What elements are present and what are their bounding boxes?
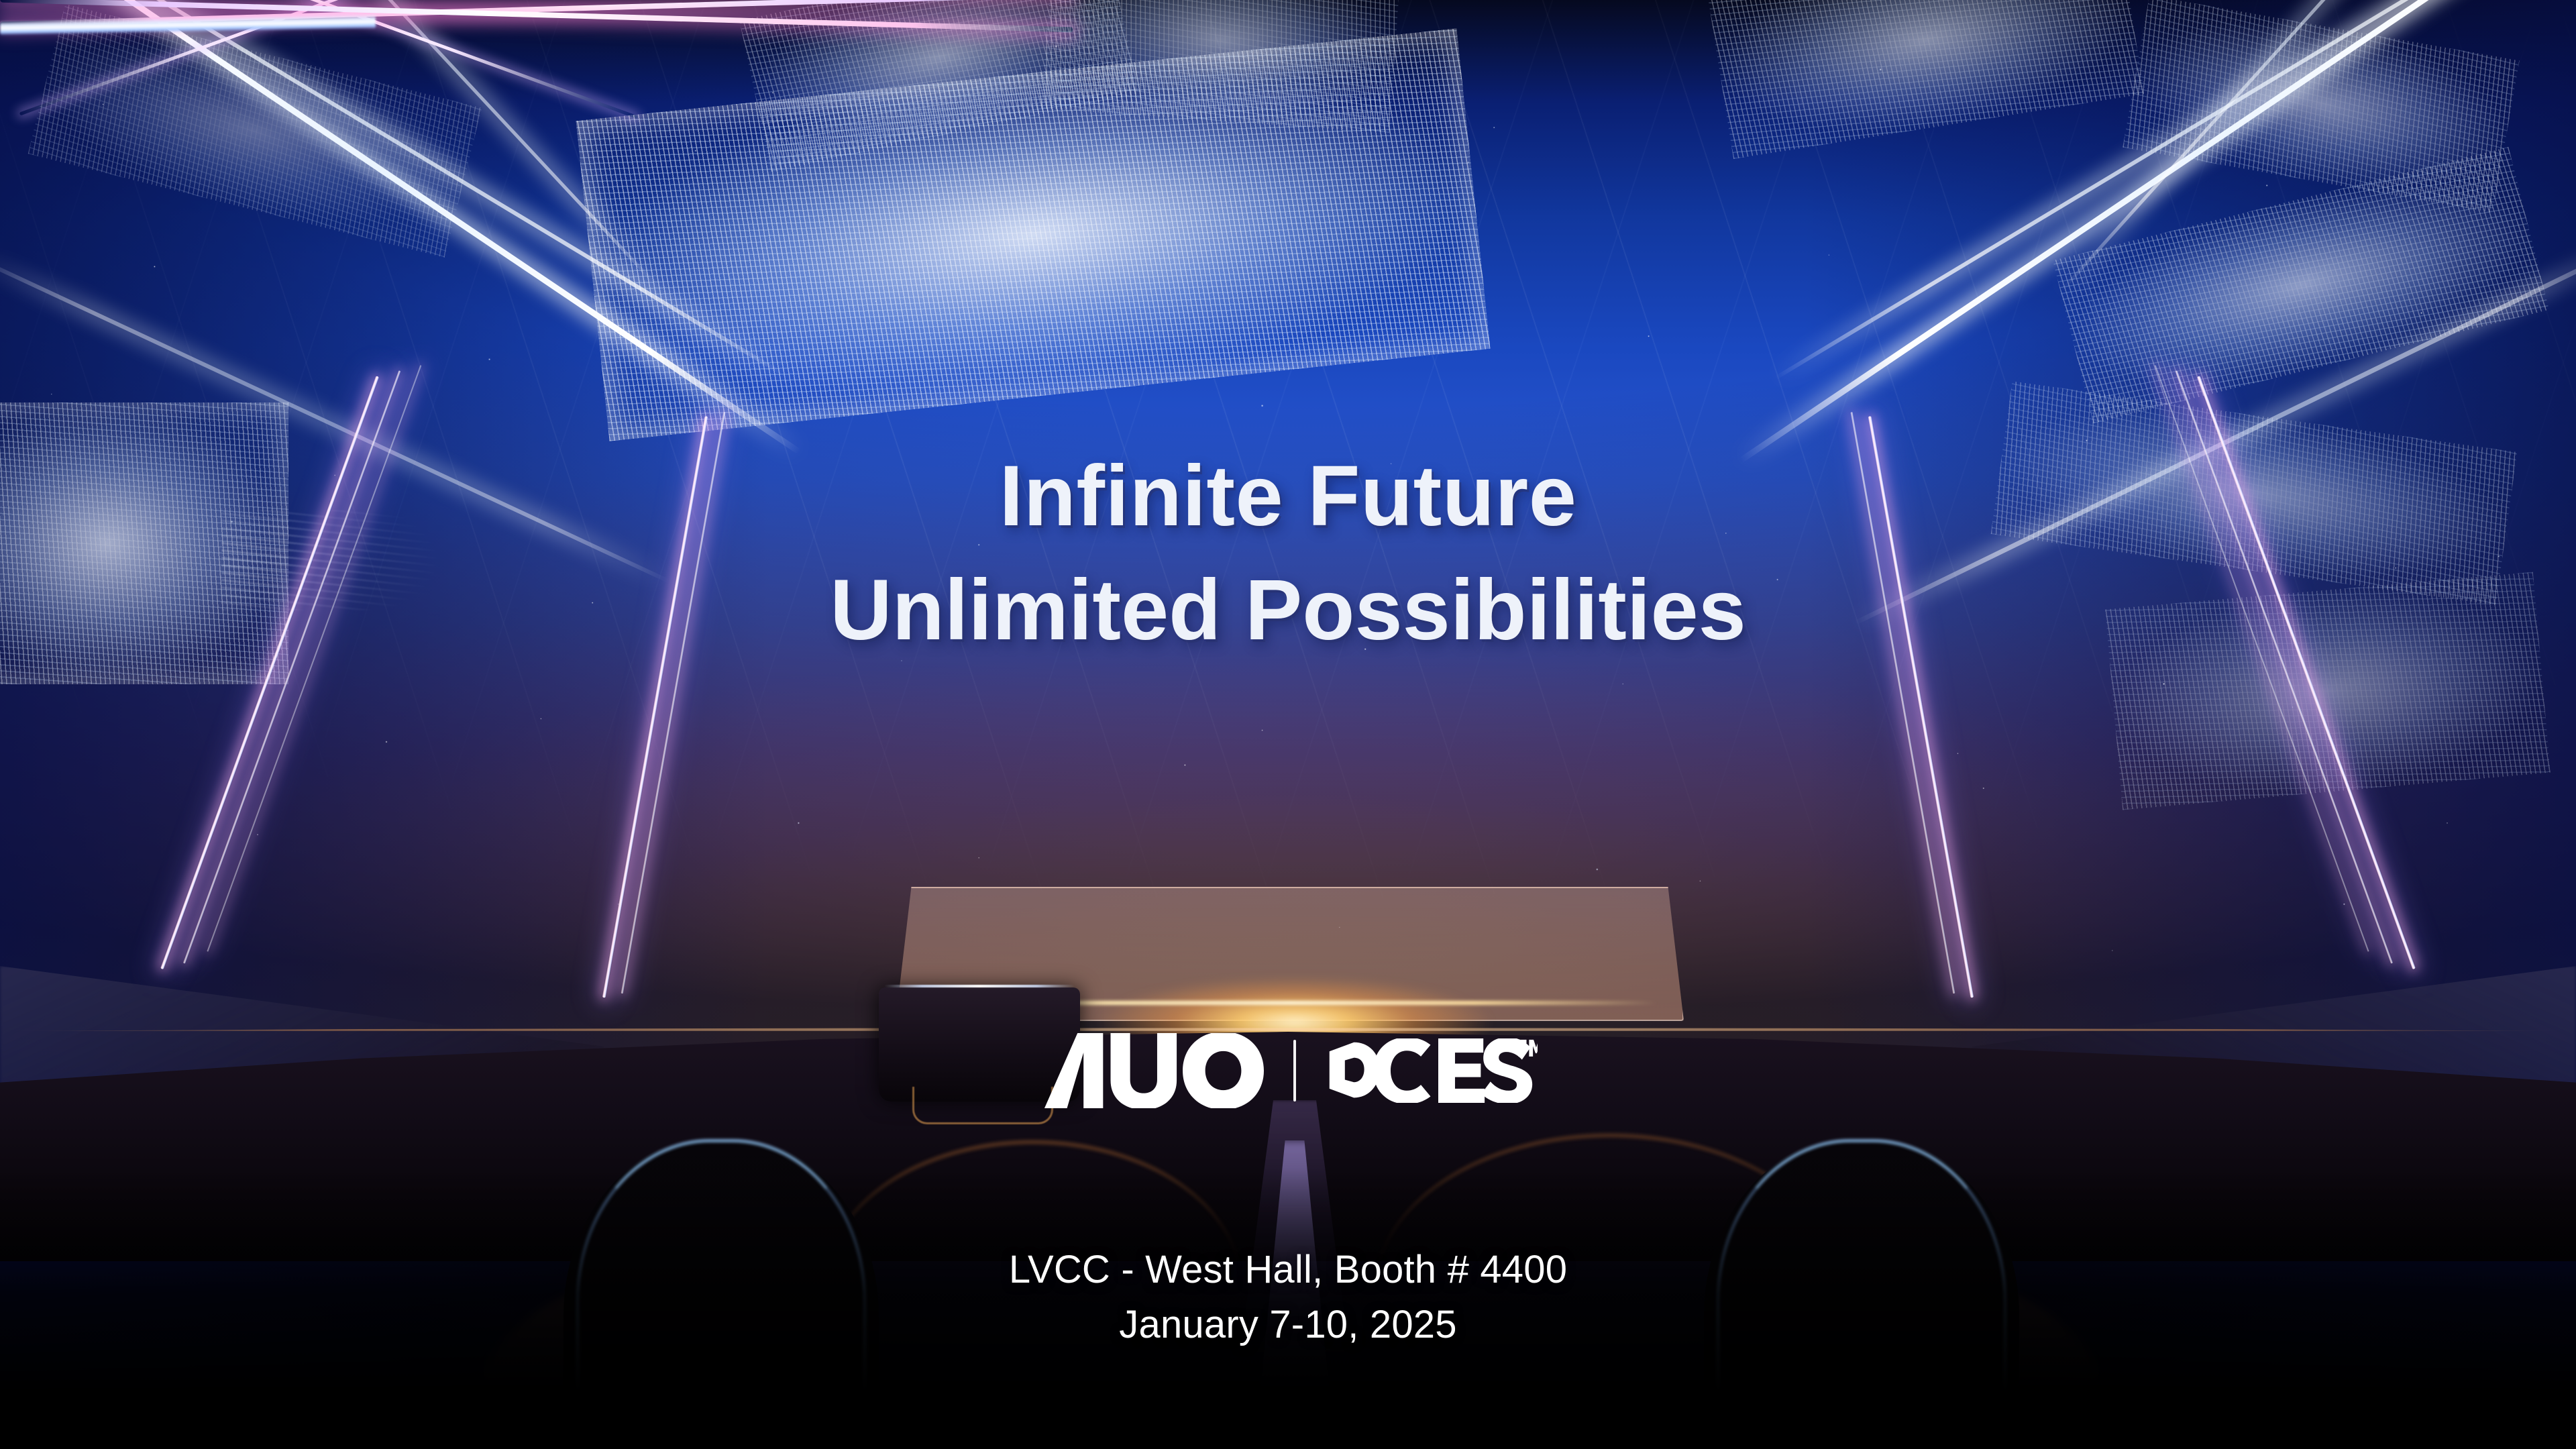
headline-line-1: Infinite Future bbox=[0, 439, 2576, 553]
event-venue: LVCC - West Hall, Booth # 4400 bbox=[0, 1242, 2576, 1297]
headline-line-2: Unlimited Possibilities bbox=[0, 553, 2576, 667]
headline: Infinite Future Unlimited Possibilities bbox=[0, 439, 2576, 667]
key-visual-canvas: Infinite Future Unlimited Possibilities bbox=[0, 0, 2576, 1449]
ces-logo-icon bbox=[1326, 1038, 1538, 1103]
event-dates: January 7-10, 2025 bbox=[0, 1297, 2576, 1352]
auo-logo-icon bbox=[1038, 1033, 1264, 1108]
event-info: LVCC - West Hall, Booth # 4400 January 7… bbox=[0, 1242, 2576, 1353]
steering-wheel-top-highlight bbox=[884, 985, 1075, 987]
logo-divider bbox=[1293, 1040, 1296, 1102]
logo-lockup bbox=[0, 1033, 2576, 1108]
